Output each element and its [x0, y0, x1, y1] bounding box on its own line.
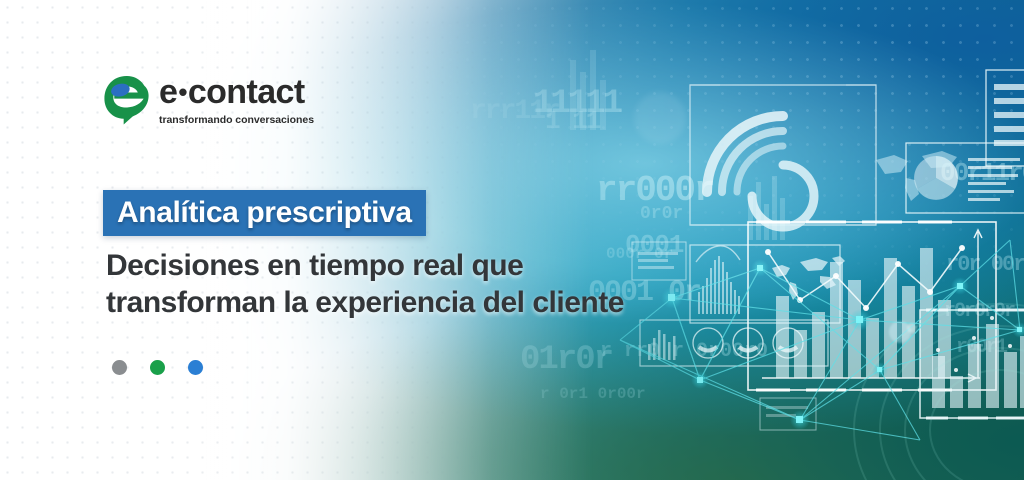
indicator-dots[interactable]	[112, 360, 203, 375]
wordmark-separator-dot: •	[177, 77, 188, 107]
brand-tagline: transformando conversaciones	[159, 114, 314, 126]
headline-title: Analítica prescriptiva	[117, 198, 412, 228]
e-contact-swoosh-icon	[103, 74, 150, 126]
subtitle-line-2: transforman la experiencia del cliente	[106, 285, 746, 322]
wordmark-e: e	[159, 73, 177, 111]
indicator-dot-blue[interactable]	[188, 360, 203, 375]
brand-logo[interactable]: e•contact transformando conversaciones	[103, 74, 314, 126]
subtitle-line-1: Decisiones en tiempo real que	[106, 248, 746, 285]
promo-banner: 11111 1 11 rr000r 0r0r 000r 0r 0001 0001…	[0, 0, 1024, 480]
indicator-dot-gray[interactable]	[112, 360, 127, 375]
brand-wordmark: e•contact	[159, 75, 314, 109]
banner-content: e•contact transformando conversaciones A…	[0, 0, 1024, 480]
headline-banner: Analítica prescriptiva	[103, 190, 426, 236]
wordmark-contact: contact	[188, 73, 305, 111]
indicator-dot-green[interactable]	[150, 360, 165, 375]
subtitle-block: Decisiones en tiempo real que transforma…	[106, 248, 746, 322]
brand-wordmark-block: e•contact transformando conversaciones	[159, 75, 314, 126]
